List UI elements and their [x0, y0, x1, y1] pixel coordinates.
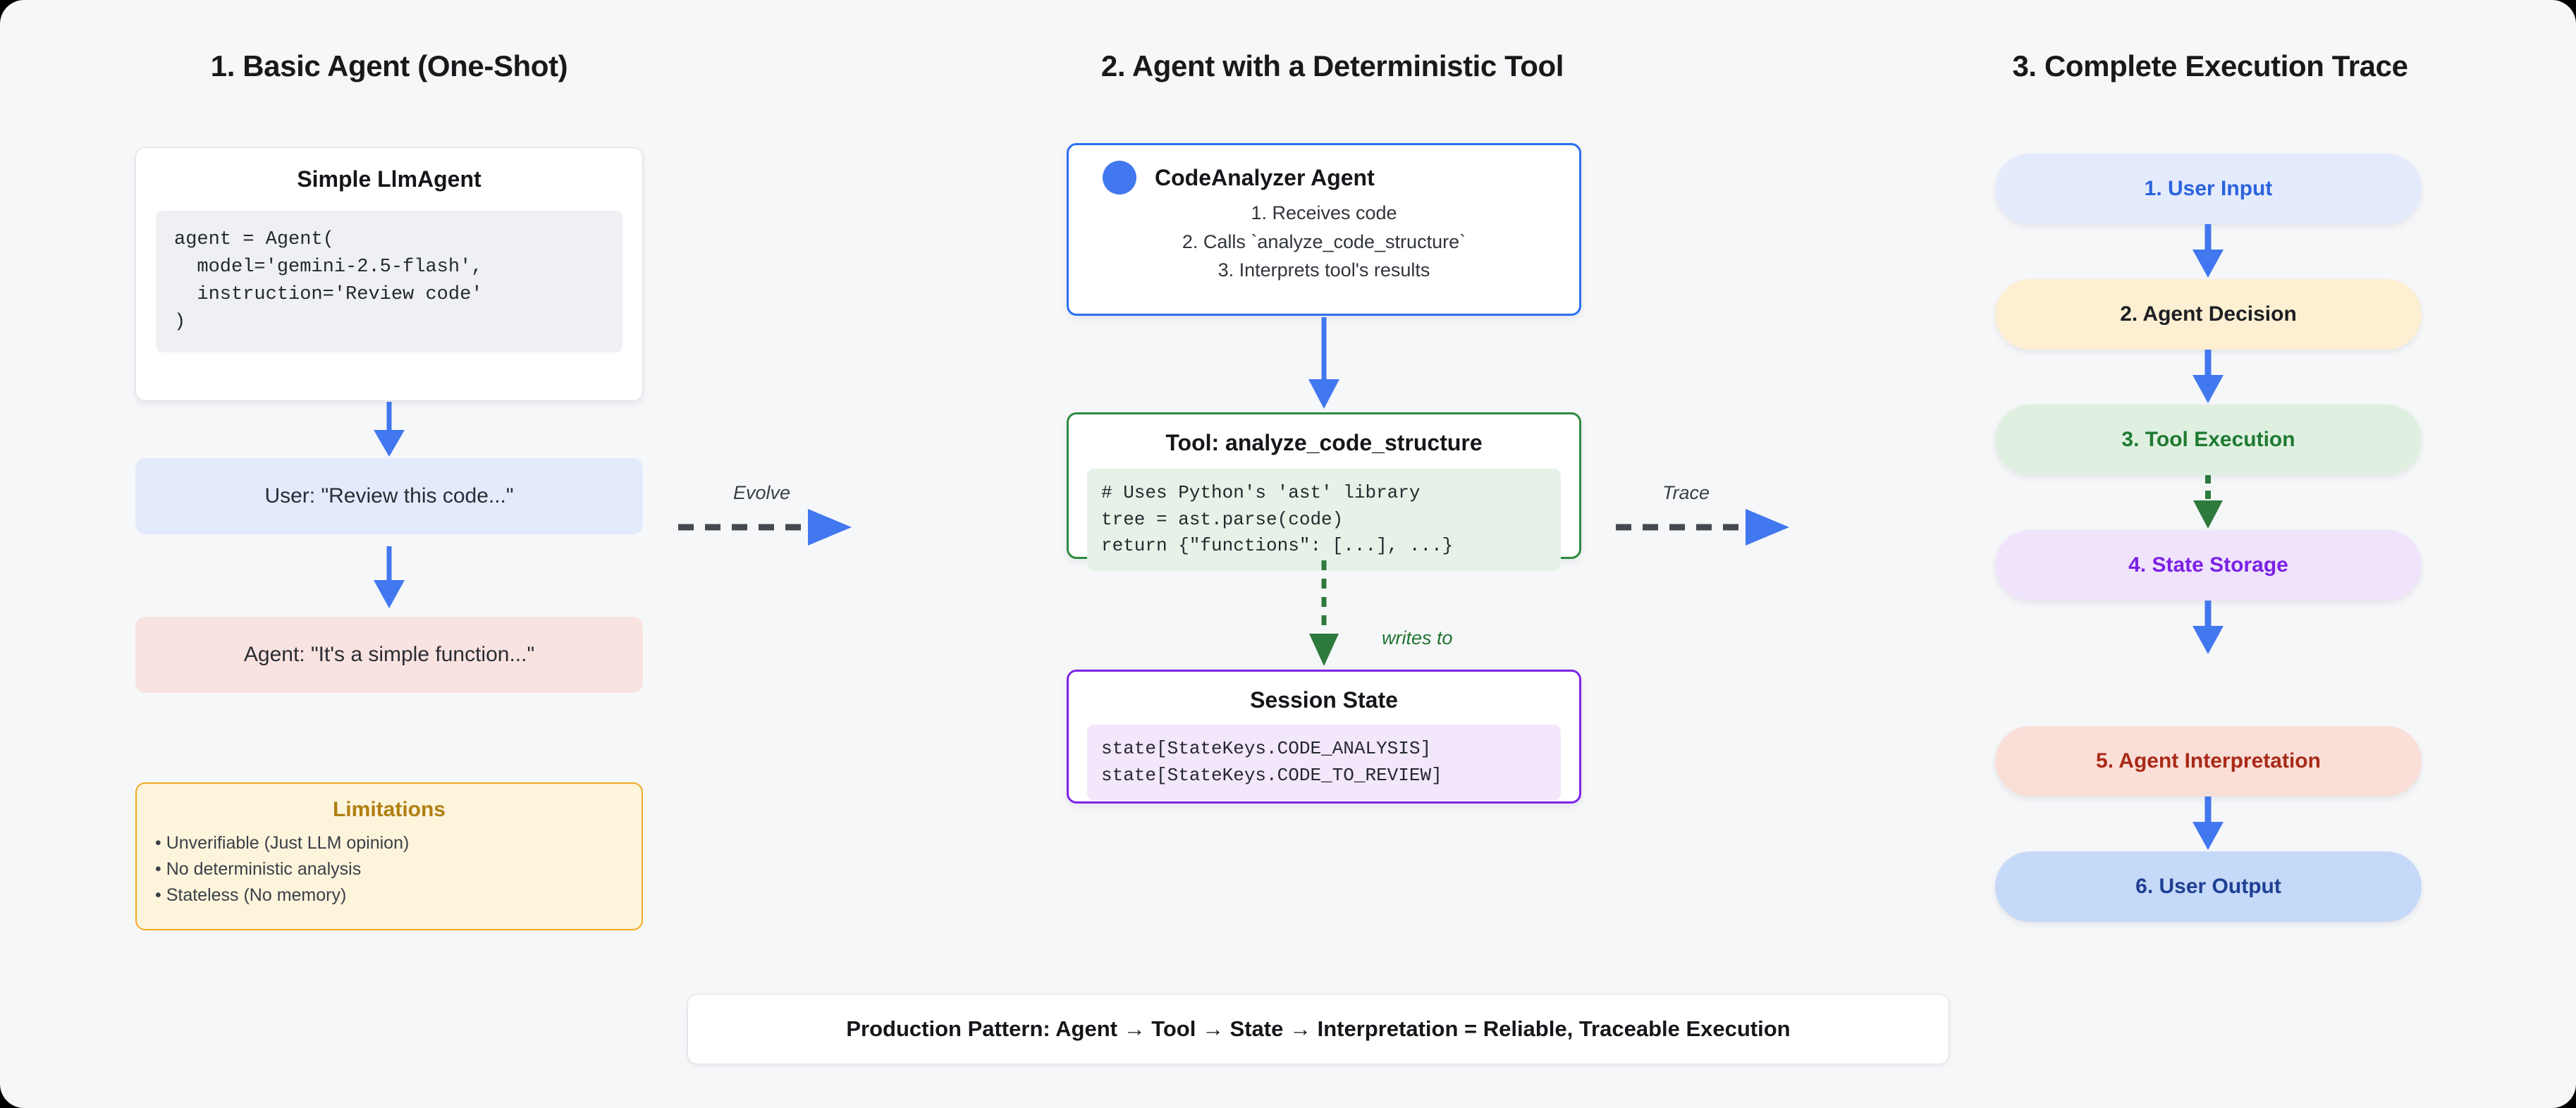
tool-card: Tool: analyze_code_structure # Uses Pyth…	[1067, 412, 1581, 559]
limitations-box: Limitations • Unverifiable (Just LLM opi…	[135, 782, 643, 930]
production-pattern-banner: Production Pattern: Agent → Tool → State…	[687, 994, 1949, 1064]
code-analyzer-step: 1. Receives code	[1087, 199, 1561, 228]
diagram-canvas: 1. Basic Agent (One-Shot) 2. Agent with …	[0, 0, 2576, 1108]
arrow-agent-to-user	[368, 402, 410, 458]
trace-step-tool-execution: 3. Tool Execution	[1995, 405, 2422, 475]
limitations-title: Limitations	[155, 798, 623, 822]
arrow-step5-to-step6	[2187, 796, 2229, 851]
code-analyzer-step: 3. Interprets tool's results	[1087, 256, 1561, 285]
trace-step-label: 4. State Storage	[2128, 553, 2288, 577]
limitation-item: • Stateless (No memory)	[155, 882, 623, 909]
arrow-evolve	[677, 506, 860, 548]
code-analyzer-agent-card: CodeAnalyzer Agent 1. Receives code 2. C…	[1067, 143, 1581, 316]
trace-step-label: 2. Agent Decision	[2120, 302, 2297, 326]
edge-label-evolve: Evolve	[733, 482, 790, 504]
column-heading-execution-trace: 3. Complete Execution Trace	[1967, 49, 2453, 83]
arrow-user-to-agent	[368, 546, 410, 610]
arrow-agent-to-tool	[1303, 317, 1345, 410]
edge-label-trace: Trace	[1662, 482, 1710, 504]
code-analyzer-step: 2. Calls `analyze_code_structure`	[1087, 228, 1561, 257]
trace-step-label: 1. User Input	[2145, 177, 2273, 201]
trace-step-user-input: 1. User Input	[1995, 154, 2422, 224]
chip-user-message-label: User: "Review this code..."	[264, 484, 513, 508]
limitation-item: • No deterministic analysis	[155, 856, 623, 882]
code-analyzer-header: CodeAnalyzer Agent	[1087, 161, 1561, 195]
edge-label-writes-to: writes to	[1382, 627, 1453, 649]
column-heading-deterministic-tool: 2. Agent with a Deterministic Tool	[1050, 49, 1614, 83]
chip-user-message: User: "Review this code..."	[135, 458, 643, 534]
simple-llm-agent-code-block: agent = Agent( model='gemini-2.5-flash',…	[156, 211, 622, 352]
trace-step-user-output: 6. User Output	[1995, 851, 2422, 922]
session-state-code-block: state[StateKeys.CODE_ANALYSIS] state[Sta…	[1087, 725, 1561, 800]
code-analyzer-title: CodeAnalyzer Agent	[1155, 165, 1375, 191]
trace-step-agent-interpretation: 5. Agent Interpretation	[1995, 726, 2422, 796]
trace-step-label: 6. User Output	[2135, 875, 2281, 899]
trace-step-label: 5. Agent Interpretation	[2096, 749, 2321, 773]
arrow-trace	[1614, 506, 1798, 548]
tool-card-title: Tool: analyze_code_structure	[1087, 430, 1561, 456]
session-state-title: Session State	[1087, 687, 1561, 713]
simple-llm-agent-card: Simple LlmAgent agent = Agent( model='ge…	[135, 147, 643, 401]
trace-step-agent-decision: 2. Agent Decision	[1995, 279, 2422, 350]
arrow-step3-to-step4	[2187, 475, 2229, 530]
chip-agent-response-label: Agent: "It's a simple function..."	[244, 643, 534, 667]
column-heading-basic-agent: 1. Basic Agent (One-Shot)	[135, 49, 643, 83]
trace-step-state-storage: 4. State Storage	[1995, 530, 2422, 601]
session-state-card: Session State state[StateKeys.CODE_ANALY…	[1067, 670, 1581, 804]
trace-step-label: 3. Tool Execution	[2121, 428, 2295, 452]
chip-agent-response: Agent: "It's a simple function..."	[135, 617, 643, 693]
arrow-tool-to-state	[1303, 560, 1345, 670]
limitation-item: • Unverifiable (Just LLM opinion)	[155, 830, 623, 856]
arrow-step1-to-step2	[2187, 224, 2229, 279]
arrow-step2-to-step3	[2187, 350, 2229, 405]
production-pattern-text: Production Pattern: Agent → Tool → State…	[846, 1016, 1790, 1042]
agent-dot-icon	[1103, 161, 1136, 195]
arrow-step4-to-step5	[2187, 601, 2229, 655]
simple-llm-agent-title: Simple LlmAgent	[156, 166, 622, 192]
code-analyzer-steps: 1. Receives code 2. Calls `analyze_code_…	[1087, 199, 1561, 285]
tool-card-code-block: # Uses Python's 'ast' library tree = ast…	[1087, 469, 1561, 571]
